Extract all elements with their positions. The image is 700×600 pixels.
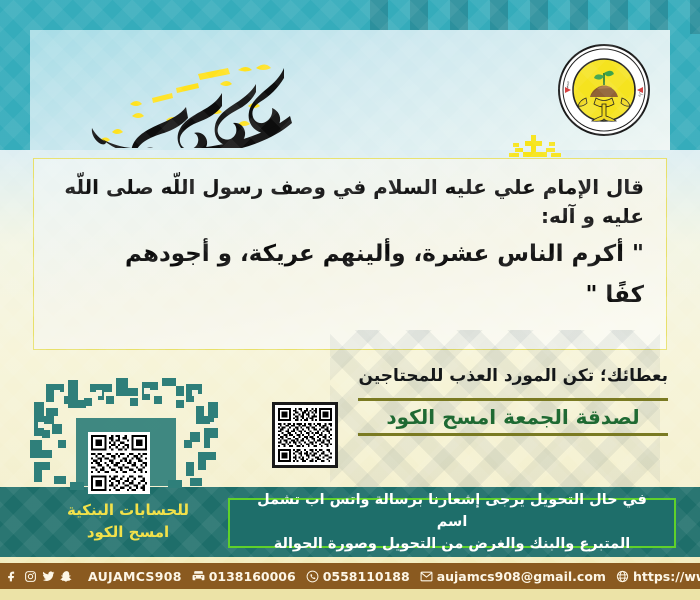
watermark-strip-top — [370, 0, 700, 34]
website-contact[interactable]: https://www.alaujam.org.sa/ — [616, 569, 700, 584]
transfer-notice-box: في حال التحويل يرجى إشعارنا برسالة واتس … — [228, 498, 676, 548]
yellow-ornament — [505, 133, 565, 159]
transfer-notice-text: في حال التحويل يرجى إشعارنا برسالة واتس … — [240, 490, 664, 555]
friday-charity-scan-block: لصدقة الجمعة امسح الكود — [358, 398, 668, 436]
envelope-icon — [420, 570, 433, 583]
quote-box: قال الإمام علي عليه السلام في وصف رسول ا… — [33, 158, 667, 350]
snapchat-icon[interactable] — [60, 570, 73, 583]
email-contact[interactable]: aujamcs908@gmail.com — [420, 569, 616, 584]
bank-accounts-label: للحسابات البنكية امسح الكود — [38, 500, 218, 544]
quote-main-line-1: " أكرم الناس عشرة، وألينهم عريكة، و أجود… — [56, 237, 644, 272]
whatsapp-icon — [306, 570, 319, 583]
phone-number: 0138160006 — [209, 569, 296, 584]
poster-root: جمعية الأوجام الخيرية للخدمات الاجتماعية… — [0, 0, 700, 600]
jumuah-mubarakah-calligraphy — [70, 58, 310, 148]
notice-line-1: في حال التحويل يرجى إشعارنا برسالة واتس … — [240, 490, 664, 534]
email-address: aujamcs908@gmail.com — [437, 569, 606, 584]
bank-accounts-qr-code[interactable] — [88, 432, 150, 494]
organization-seal-logo: جمعية الأوجام الخيرية للخدمات الاجتماعية… — [556, 42, 652, 138]
social-handle: AUJAMCS908 — [88, 569, 192, 584]
instagram-icon[interactable] — [24, 570, 37, 583]
bank-label-line-2: امسح الكود — [38, 522, 218, 544]
globe-icon — [616, 570, 629, 583]
friday-charity-qr-code[interactable] — [272, 402, 338, 468]
whatsapp-contact[interactable]: 0558110188 — [306, 569, 420, 584]
phone-contact[interactable]: 0138160006 — [192, 569, 306, 584]
telephone-icon — [192, 570, 205, 583]
bank-label-line-1: للحسابات البنكية — [38, 500, 218, 522]
donation-tagline: بعطائك؛ تكن المورد العذب للمحتاجين — [359, 366, 668, 386]
social-links — [0, 563, 80, 589]
website-url: https://www.alaujam.org.sa/ — [633, 569, 700, 584]
contact-bar: AUJAMCS908 0138160006 0558110188 aujamcs… — [0, 563, 700, 589]
footer-bottom-strip — [0, 589, 700, 600]
whatsapp-number: 0558110188 — [323, 569, 410, 584]
facebook-icon[interactable] — [6, 570, 19, 583]
header-band: جمعية الأوجام الخيرية للخدمات الاجتماعية… — [30, 30, 670, 150]
quote-main-line-2: كفًا " — [56, 278, 644, 313]
notice-line-2: المتبرع والبنك والغرض من التحويل وصورة ا… — [240, 534, 664, 556]
scan-rule-bottom — [358, 433, 668, 436]
quote-lead-line-1: قال الإمام علي عليه السلام في وصف رسول ا… — [56, 173, 644, 202]
friday-charity-scan-text: لصدقة الجمعة امسح الكود — [358, 401, 668, 433]
quote-lead-line-2: عليه و آله: — [56, 202, 644, 231]
twitter-icon[interactable] — [42, 570, 55, 583]
